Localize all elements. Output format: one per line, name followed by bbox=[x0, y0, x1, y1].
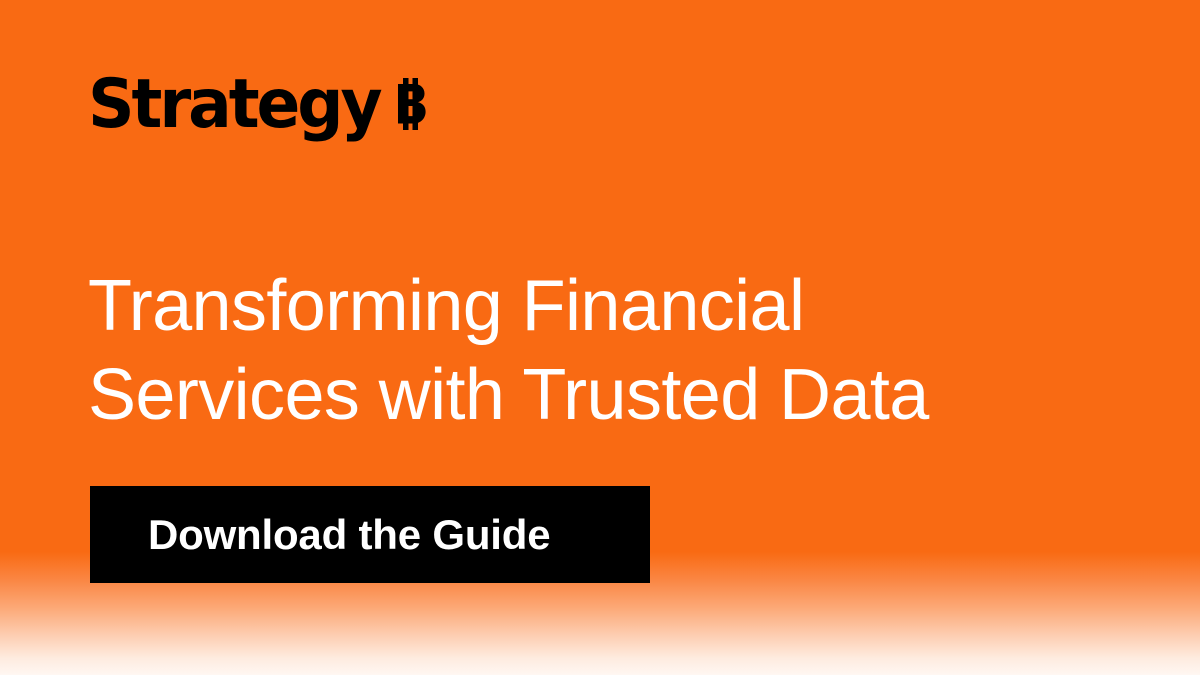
download-guide-label: Download the Guide bbox=[148, 514, 550, 556]
bitcoin-symbol-icon bbox=[396, 78, 426, 130]
page-title: Transforming Financial Services with Tru… bbox=[88, 262, 1088, 440]
brand-wordmark: Strategy bbox=[88, 72, 380, 139]
promo-banner: Strategy Transforming Financial Services… bbox=[0, 0, 1200, 675]
brand-logo[interactable]: Strategy bbox=[88, 72, 426, 139]
download-guide-button[interactable]: Download the Guide bbox=[90, 486, 650, 583]
